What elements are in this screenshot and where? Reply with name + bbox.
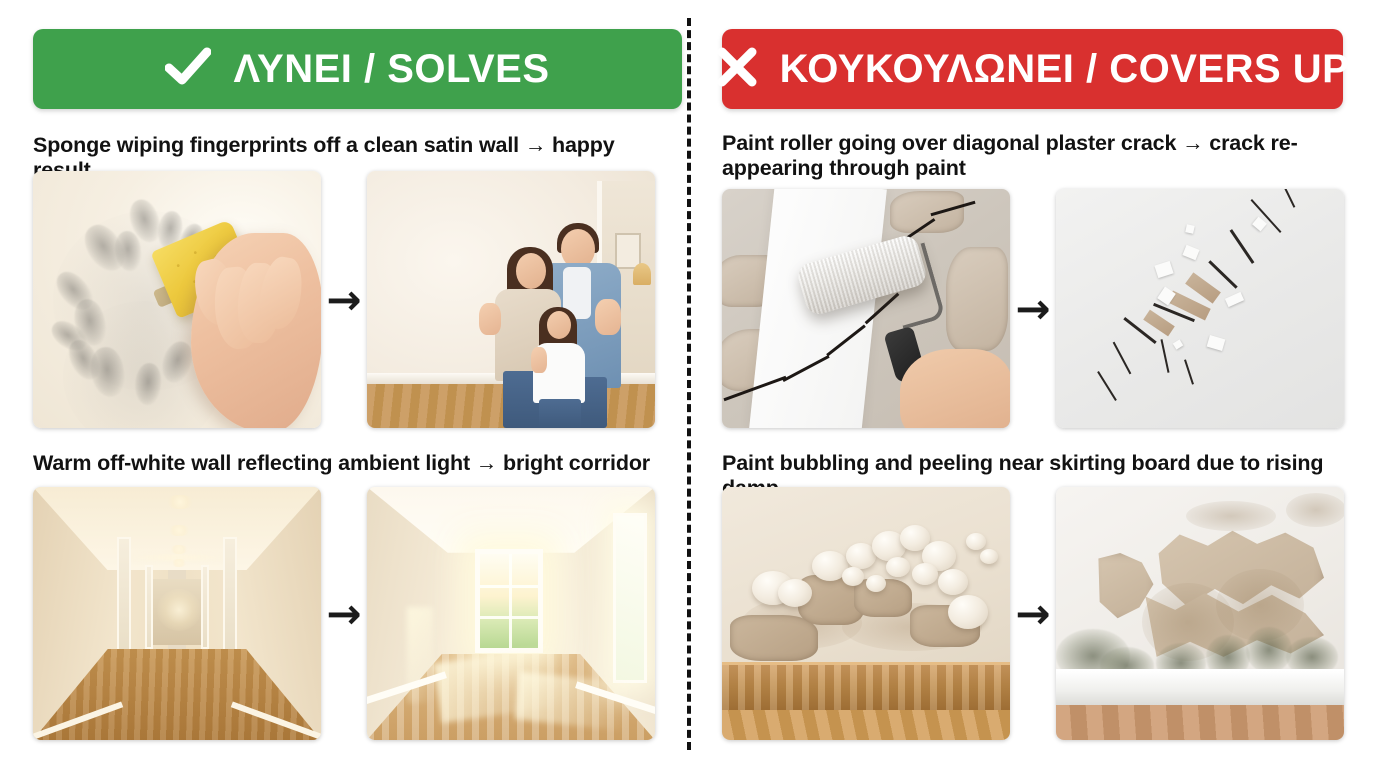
- paint-bubbling-near-skirting-image: [722, 487, 1010, 740]
- covers-row-2-arrow: →: [1010, 593, 1056, 635]
- solves-row-2-arrow: →: [321, 593, 367, 635]
- solves-column: ΛΥΝΕΙ / SOLVES Sponge wiping fingerprint…: [0, 0, 688, 768]
- covers-row-1-arrow: →: [1010, 288, 1056, 330]
- solves-row-2-caption: Warm off-white wall reflecting ambient l…: [33, 451, 663, 476]
- crack-reappearing-through-paint-image: [1056, 189, 1344, 428]
- covers-row-2-pair: →: [722, 487, 1344, 740]
- solves-row-2-pair: →: [33, 487, 655, 740]
- comparison-infographic: ΛΥΝΕΙ / SOLVES Sponge wiping fingerprint…: [0, 0, 1376, 768]
- sponge-wiping-fingerprints-image: [33, 171, 321, 428]
- peeling-damp-wall-with-mould-image: [1056, 487, 1344, 740]
- column-divider: [687, 18, 691, 750]
- covers-row-1-caption: Paint roller going over diagonal plaster…: [722, 131, 1347, 182]
- bright-sunlit-corridor-image: [367, 487, 655, 740]
- solves-banner: ΛΥΝΕΙ / SOLVES: [33, 29, 682, 109]
- covers-row-1-pair: →: [722, 189, 1344, 428]
- covers-up-banner: ΚΟΥΚΟΥΛΩΝΕΙ / COVERS UP: [722, 29, 1343, 109]
- solves-banner-title: ΛΥΝΕΙ / SOLVES: [233, 49, 549, 89]
- warm-lit-corridor-image: [33, 487, 321, 740]
- check-mark-icon: [165, 47, 211, 91]
- solves-row-1-pair: →: [33, 171, 655, 428]
- cross-mark-icon: [716, 47, 758, 91]
- covers-up-banner-title: ΚΟΥΚΟΥΛΩΝΕΙ / COVERS UP: [780, 49, 1350, 89]
- solves-row-1-arrow: →: [321, 279, 367, 321]
- happy-family-thumbs-up-image: [367, 171, 655, 428]
- covers-up-column: ΚΟΥΚΟΥΛΩΝΕΙ / COVERS UP Paint roller goi…: [688, 0, 1376, 768]
- paint-roller-over-crack-image: [722, 189, 1010, 428]
